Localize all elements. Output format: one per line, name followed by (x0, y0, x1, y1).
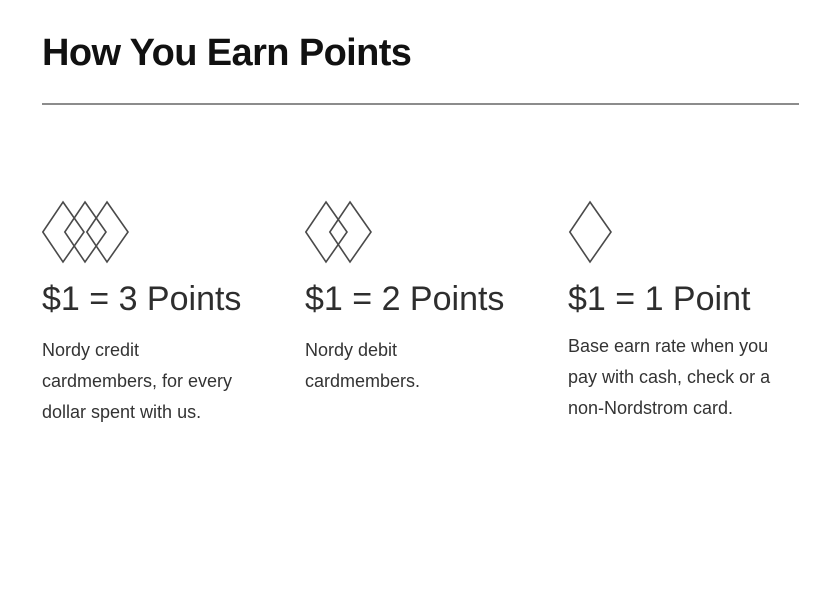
earn-rate-heading: $1 = 3 Points (42, 274, 247, 325)
earn-rate-heading: $1 = 1 Point (568, 274, 808, 325)
earn-rate-description: Base earn rate when you pay with cash, c… (568, 331, 772, 424)
three-diamonds-icon (42, 196, 305, 274)
earn-rate-column-credit: $1 = 3 Points Nordy credit cardmembers, … (42, 196, 305, 428)
page-title: How You Earn Points (42, 30, 411, 76)
title-divider (42, 103, 799, 105)
earn-rate-description: Nordy debit cardmembers. (305, 335, 511, 397)
earn-rate-column-debit: $1 = 2 Points Nordy debit cardmembers. (305, 196, 568, 397)
earn-rate-description: Nordy credit cardmembers, for every doll… (42, 335, 248, 428)
earn-points-panel: How You Earn Points $1 = 3 Points Nordy … (0, 0, 828, 594)
earn-rate-columns: $1 = 3 Points Nordy credit cardmembers, … (42, 196, 802, 428)
one-diamond-icon (568, 196, 828, 274)
earn-rate-column-base: $1 = 1 Point Base earn rate when you pay… (568, 196, 828, 424)
two-diamonds-icon (305, 196, 568, 274)
earn-rate-heading: $1 = 2 Points (305, 274, 510, 325)
